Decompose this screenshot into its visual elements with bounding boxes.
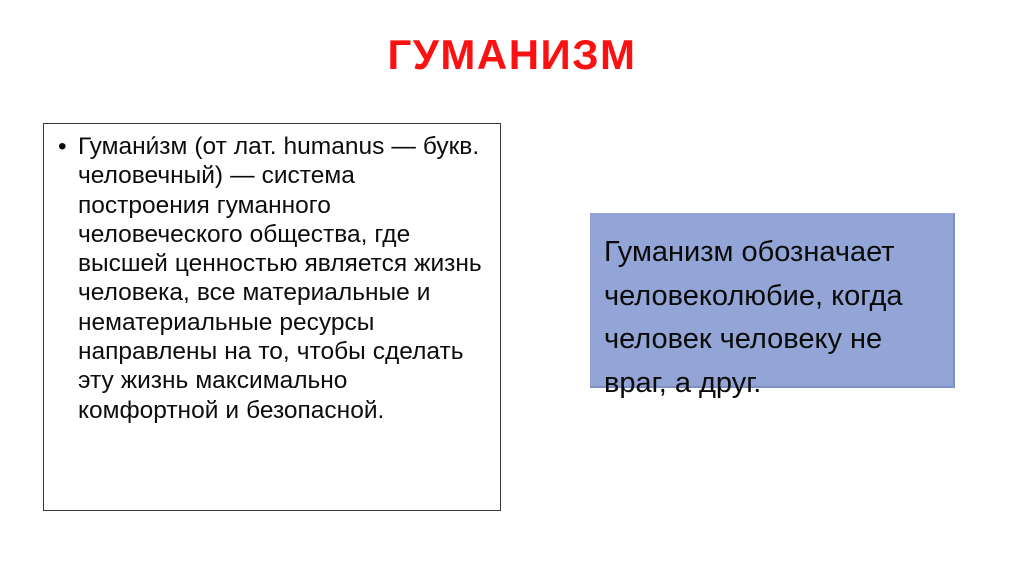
note-paragraph: Гуманизм обозначает человеколюбие, когда… [604,231,937,405]
list-item: • Гумани́зм (от лат. humanus — букв. чел… [52,132,490,425]
definition-text-box: • Гумани́зм (от лат. humanus — букв. чел… [43,123,501,511]
definition-paragraph: Гумани́зм (от лат. humanus — букв. челов… [78,133,482,424]
definition-list: • Гумани́зм (от лат. humanus — букв. чел… [52,132,490,425]
slide-canvas: ГУМАНИЗМ • Гумани́зм (от лат. humanus — … [0,0,1024,576]
bullet-point-icon: • [58,132,67,161]
highlight-note-box: Гуманизм обозначает человеколюбие, когда… [590,213,955,388]
page-title: ГУМАНИЗМ [0,30,1024,80]
